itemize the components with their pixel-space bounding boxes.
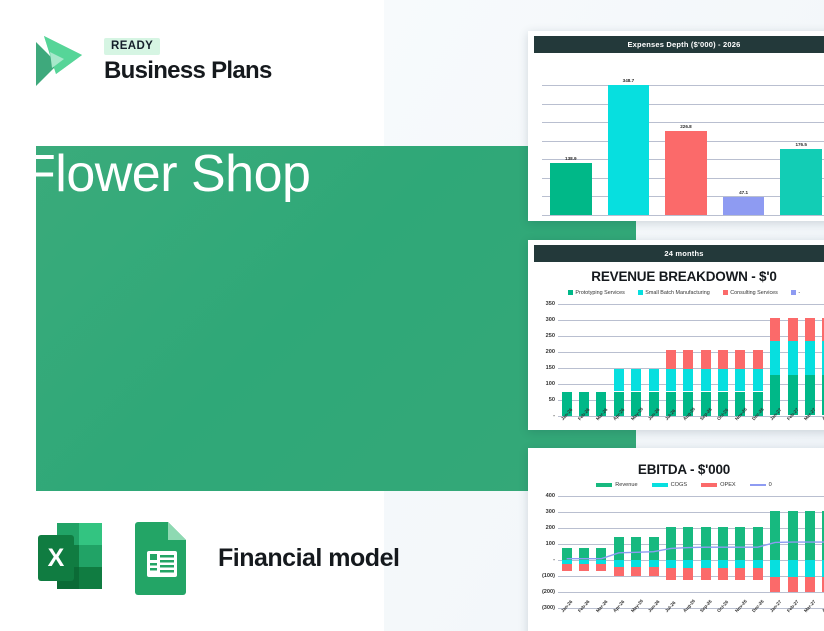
y-axis-tick-label: (200) [542,589,558,595]
chart2-plot-area: 35030025020015010050-Jan-26Feb-26Mar-26A… [558,304,824,416]
legend-item: Small Batch Manufacturing [638,290,710,296]
y-axis-tick-label: 250 [546,333,558,339]
legend-label: Revenue [615,482,637,488]
stacked-bar-segment [701,350,711,369]
y-axis-tick-label: (300) [542,605,558,611]
svg-text:X: X [48,544,65,572]
chart1-title-bar: Expenses Depth ($'000) - 2026 [534,36,824,53]
y-axis-tick-label: 350 [546,301,558,307]
ready-badge: READY [104,38,160,55]
stacked-bar-segment [666,350,676,369]
stacked-bar-segment [631,369,641,391]
y-axis-tick-label: 100 [546,381,558,387]
chart3-title: EBITDA - $'000 [528,462,824,477]
grid-line [558,336,824,337]
brand-name: Business Plans [104,58,272,83]
stacked-bar-segment [718,350,728,369]
microsoft-excel-icon: X [30,518,116,598]
stacked-bar-segment [683,350,693,369]
y-axis-tick-label: 300 [546,317,558,323]
chart2-banner: 24 months [534,245,824,262]
stacked-bar-segment [718,369,728,391]
google-sheets-icon [130,518,196,598]
grid-line [542,85,824,86]
play-triangle-logo [28,30,90,92]
chart-card-expenses-depth[interactable]: Expenses Depth ($'000) - 2026 138.9348.7… [528,31,824,221]
stacked-bar-segment [649,369,659,391]
stacked-bar-segment [614,369,624,391]
bar [723,197,764,214]
legend-item: OPEX [701,482,736,488]
legend-item: 0 [750,482,772,488]
page-title: Flower Shop [24,148,310,200]
y-axis-tick-label: 150 [546,365,558,371]
bar [780,149,821,214]
bar-value-label: 348.7 [600,78,658,83]
y-axis-tick-label: 100 [546,541,558,547]
stacked-bar-segment [788,318,798,341]
grid-line [558,320,824,321]
stacked-bar-segment [805,318,815,341]
stacked-bar-segment [735,369,745,391]
grid-line [558,304,824,305]
legend-label: Small Batch Manufacturing [645,290,709,296]
legend-item: COGS [652,482,687,488]
legend-item: Consulting Services [723,290,778,296]
legend-label: - [798,290,800,296]
y-axis-tick-label: 200 [546,525,558,531]
legend-item: - [791,290,800,296]
y-axis-tick-label: - [553,413,558,419]
legend-item: Revenue [596,482,637,488]
legend-item: Prototyping Services [568,290,625,296]
bar-value-label: 226.8 [657,124,715,129]
chart3-legend: RevenueCOGSOPEX0 [528,482,824,488]
grid-line [542,104,824,105]
y-axis-tick-label: 50 [549,397,558,403]
bar [608,85,649,214]
y-axis-tick-label: (100) [542,573,558,579]
chart3-plot-area: 400300200100-(100)(200)(300)Jan-26Feb-26… [558,496,824,608]
chart-card-ebitda[interactable]: EBITDA - $'000 RevenueCOGSOPEX0 40030020… [528,448,824,631]
legend-label: Consulting Services [730,290,778,296]
financial-model-label: Financial model [218,544,399,573]
y-axis-tick-label: 400 [546,493,558,499]
brand-lockup: READY Business Plans [28,30,272,92]
bar [550,163,591,214]
slide-canvas: READY Business Plans Flower Shop X [0,0,824,631]
stacked-bar-segment [805,341,815,375]
bar-value-label: 176.5 [772,142,824,147]
legend-label: COGS [671,482,687,488]
chart1-plot-area: 138.9348.7226.847.1176.5 [542,67,824,215]
stacked-bar-segment [666,369,676,391]
bar-value-label: 138.9 [542,156,600,161]
legend-label: 0 [769,482,772,488]
legend-label: Prototyping Services [575,290,624,296]
y-axis-tick-label: 300 [546,509,558,515]
stacked-bar-segment [753,350,763,369]
chart2-title: REVENUE BREAKDOWN - $'0 [528,269,824,284]
zero-line-series [558,496,824,608]
stacked-bar-segment [770,318,780,341]
chart2-legend: Prototyping ServicesSmall Batch Manufact… [528,290,824,296]
y-axis-tick-label: 200 [546,349,558,355]
chart-card-revenue-breakdown[interactable]: 24 months REVENUE BREAKDOWN - $'0 Protot… [528,240,824,430]
stacked-bar-segment [735,350,745,369]
bar [665,131,706,215]
bar-value-label: 47.1 [715,190,773,195]
stacked-bar-segment [770,341,780,375]
stacked-bar-segment [788,341,798,375]
stacked-bar-segment [753,369,763,391]
legend-label: OPEX [720,482,736,488]
stacked-bar-segment [683,369,693,391]
stacked-bar-segment [701,369,711,391]
format-icons-row: X Financial model [30,518,399,598]
axis-line [542,215,824,216]
